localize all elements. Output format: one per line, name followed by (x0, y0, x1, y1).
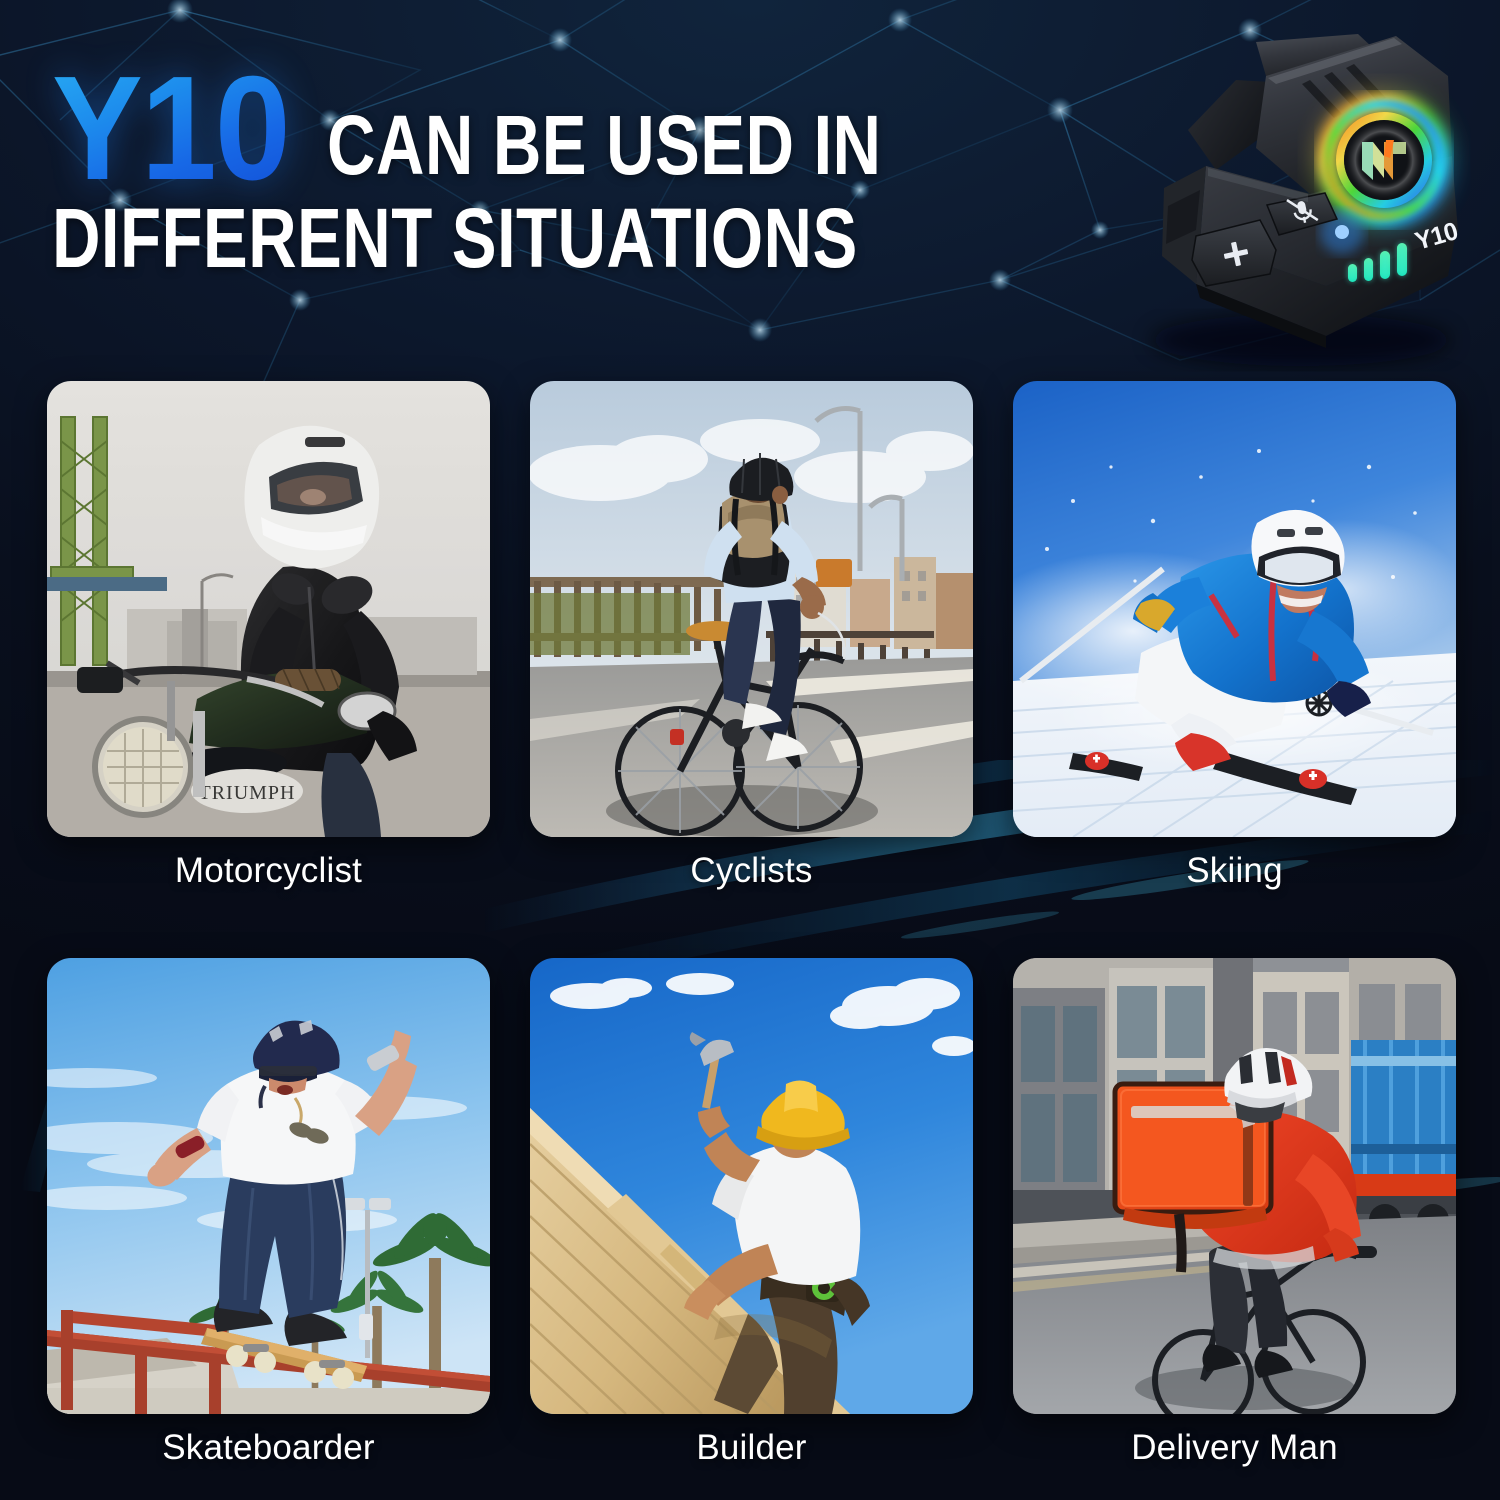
headline-line-2: DIFFERENT SITUATIONS (52, 196, 858, 280)
use-case-tile-builder[interactable]: Builder (530, 958, 973, 1414)
photo-cyclists (530, 381, 973, 837)
headline-line-1: CAN BE USED IN (327, 106, 881, 192)
use-case-grid: TRIUMPH Motorcyclist (47, 381, 1453, 1471)
blue-truck (1351, 1040, 1456, 1236)
caption-skiing: Skiing (1013, 851, 1456, 891)
photo-motorcyclist: TRIUMPH (47, 381, 490, 837)
use-case-tile-skiing[interactable]: Skiing (1013, 381, 1456, 837)
caption-cyclists: Cyclists (530, 851, 973, 891)
photo-delivery-man (1013, 958, 1456, 1414)
use-case-tile-cyclists[interactable]: Cyclists (530, 381, 973, 837)
use-case-tile-skateboarder[interactable]: Skateboarder (47, 958, 490, 1414)
caption-delivery-man: Delivery Man (1013, 1428, 1456, 1468)
caption-motorcyclist: Motorcyclist (47, 851, 490, 891)
photo-skateboarder (47, 958, 490, 1414)
photo-builder (530, 958, 973, 1414)
product-model-title: Y10 (52, 65, 289, 192)
caption-builder: Builder (530, 1428, 973, 1468)
product-feature-banner: Y10 CAN BE USED IN DIFFERENT SITUATIONS (0, 0, 1500, 1500)
use-case-tile-motorcyclist[interactable]: TRIUMPH Motorcyclist (47, 381, 490, 837)
product-device-image: Y10 (1096, 18, 1500, 378)
photo-skiing (1013, 381, 1456, 837)
caption-skateboarder: Skateboarder (47, 1428, 490, 1468)
headline-block: Y10 CAN BE USED IN DIFFERENT SITUATIONS (52, 66, 1212, 286)
use-case-tile-delivery-man[interactable]: Delivery Man (1013, 958, 1456, 1414)
